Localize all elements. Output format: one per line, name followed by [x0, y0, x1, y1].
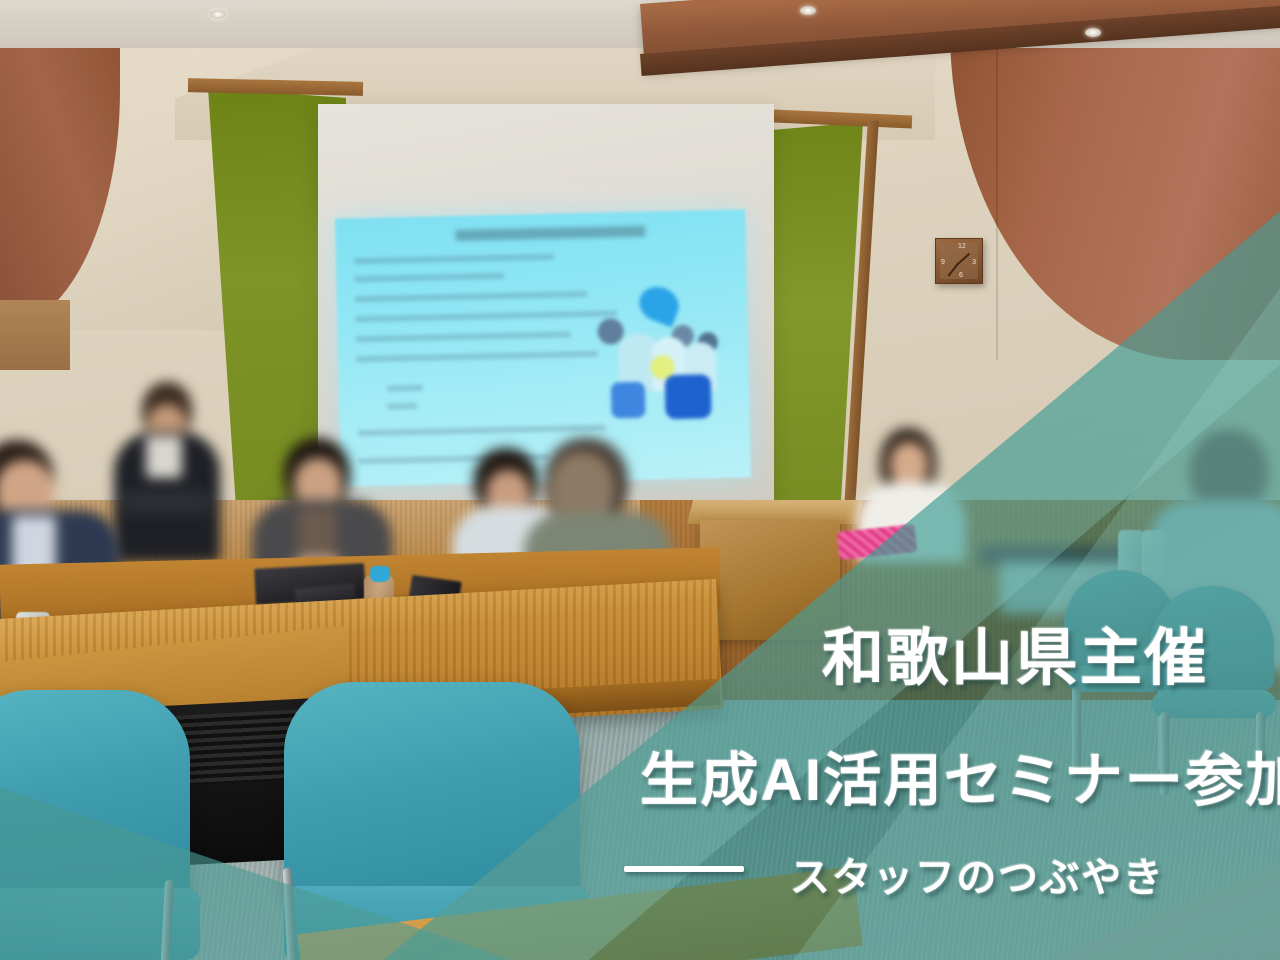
title-line-3: スタッフのつぶやき — [790, 845, 1164, 903]
slide-illustration — [587, 280, 740, 433]
clock-numeral-6: 6 — [959, 272, 963, 279]
slide-text-line — [354, 273, 504, 282]
downlight-icon — [1085, 28, 1101, 37]
slide-title-text — [455, 226, 645, 241]
clock-numeral-12: 12 — [958, 243, 966, 250]
clock-hand-minute — [948, 262, 960, 276]
slide-text-line — [355, 291, 587, 302]
clock-numeral-9: 9 — [941, 259, 945, 266]
downlight-icon — [210, 10, 226, 19]
clock-face: 12 3 6 9 — [940, 243, 978, 279]
downlight-icon — [800, 6, 816, 15]
title-line-2: 生成AI活用セミナー参加 — [640, 733, 1280, 817]
wood-panel-left-lower — [0, 300, 70, 370]
slide-text-line — [356, 331, 571, 342]
clock-numeral-3: 3 — [972, 259, 976, 266]
seminar-photo-banner: 12 3 6 9 — [0, 0, 1280, 960]
clock-hand-hour — [958, 253, 970, 264]
slide-text-line — [358, 425, 606, 437]
slide-text-line — [387, 403, 417, 410]
slide-text-line — [387, 385, 423, 392]
horizontal-rule — [624, 866, 744, 872]
water-bottle-cap — [370, 566, 390, 582]
slide-text-line — [354, 254, 554, 265]
title-line-1: 和歌山県主催 — [822, 607, 1209, 697]
wall-clock: 12 3 6 9 — [935, 238, 983, 284]
slide-text-line — [355, 310, 617, 322]
slide-text-line — [356, 351, 598, 362]
